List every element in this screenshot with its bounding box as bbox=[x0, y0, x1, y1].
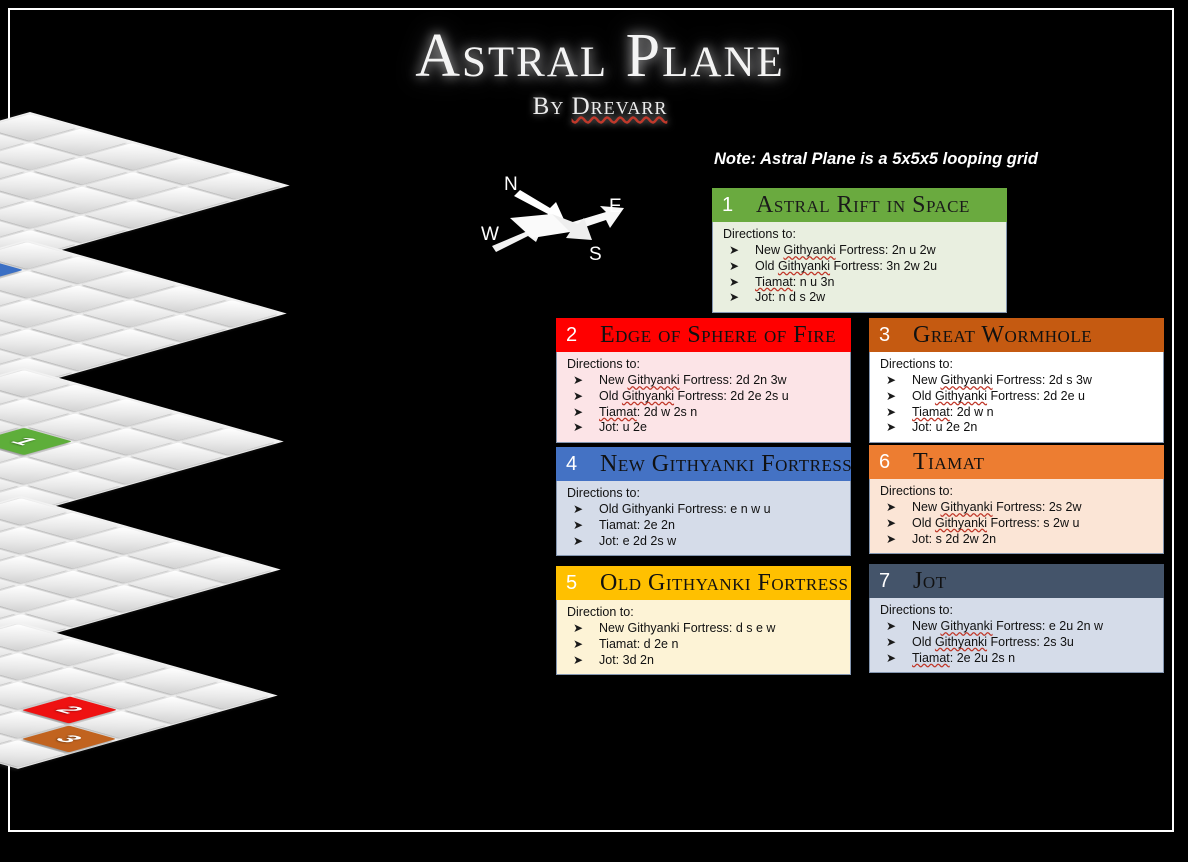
grid-cells: 1 bbox=[0, 368, 284, 515]
direction-text: Tiamat: n u 3n bbox=[755, 275, 834, 289]
direction-entry: ➤Old Githyanki Fortress: s 2w u bbox=[878, 516, 1155, 532]
direction-text: Tiamat: d 2e n bbox=[599, 637, 678, 651]
subtitle-author: Drevarr bbox=[572, 93, 668, 120]
poster-canvas: Astral Plane By Drevarr Note: Astral Pla… bbox=[0, 0, 1188, 855]
compass-rose: N E W S bbox=[470, 168, 635, 273]
direction-entry: ➤New Githyanki Fortress: d s e w bbox=[565, 621, 842, 637]
card-5-number: 5 bbox=[566, 572, 594, 595]
direction-text: Tiamat: 2d w 2s n bbox=[599, 405, 697, 419]
arrow-bullet-icon: ➤ bbox=[886, 405, 896, 421]
card-5-header: 5Old Githyanki Fortress bbox=[556, 566, 851, 600]
page-subtitle: By Drevarr bbox=[533, 93, 668, 121]
spellcheck-underline: Githyanki bbox=[940, 500, 992, 514]
grid-cells: 23 bbox=[0, 622, 278, 769]
direction-text: New Githyanki Fortress: e 2u 2n w bbox=[912, 619, 1103, 633]
direction-entry: ➤Old Githyanki Fortress: 2d 2e 2s u bbox=[565, 389, 842, 405]
arrow-bullet-icon: ➤ bbox=[886, 619, 896, 635]
direction-entry: ➤Old Githyanki Fortress: 3n 2w 2u bbox=[721, 259, 998, 275]
card-6-number: 6 bbox=[879, 451, 907, 474]
directions-list: ➤New Githyanki Fortress: 2s 2w➤Old Githy… bbox=[878, 500, 1155, 547]
directions-list: ➤New Githyanki Fortress: e 2u 2n w➤Old G… bbox=[878, 619, 1155, 666]
direction-entry: ➤Old Githyanki Fortress: e n w u bbox=[565, 502, 842, 518]
card-4[interactable]: 4New Githyanki FortressDirections to:➤Ol… bbox=[556, 447, 851, 556]
direction-text: Old Githyanki Fortress: 2s 3u bbox=[912, 635, 1074, 649]
direction-text: Old Githyanki Fortress: e n w u bbox=[599, 502, 771, 516]
spellcheck-underline: Tiamat bbox=[912, 405, 950, 419]
card-2[interactable]: 2Edge of Sphere of FireDirections to:➤Ne… bbox=[556, 318, 851, 443]
arrow-bullet-icon: ➤ bbox=[886, 373, 896, 389]
spellcheck-underline: Githyanki bbox=[935, 635, 987, 649]
subtitle-prefix: By bbox=[533, 93, 572, 120]
direction-text: Jot: e 2d 2s w bbox=[599, 534, 676, 548]
direction-entry: ➤New Githyanki Fortress: e 2u 2n w bbox=[878, 619, 1155, 635]
spellcheck-underline: Tiamat bbox=[755, 275, 793, 289]
arrow-bullet-icon: ➤ bbox=[729, 275, 739, 291]
direction-entry: ➤Jot: n d s 2w bbox=[721, 290, 998, 306]
directions-list: ➤New Githyanki Fortress: 2n u 2w➤Old Git… bbox=[721, 243, 998, 306]
direction-entry: ➤Tiamat: 2d w n bbox=[878, 405, 1155, 421]
arrow-bullet-icon: ➤ bbox=[729, 290, 739, 306]
spellcheck-underline: Githyanki bbox=[778, 259, 830, 273]
card-5-title: Old Githyanki Fortress bbox=[600, 570, 849, 597]
card-6-body: Directions to:➤New Githyanki Fortress: 2… bbox=[869, 479, 1164, 554]
direction-text: Jot: s 2d 2w 2n bbox=[912, 532, 996, 546]
direction-text: Old Githyanki Fortress: 2d 2e 2s u bbox=[599, 389, 789, 403]
direction-entry: ➤Jot: 3d 2n bbox=[565, 653, 842, 669]
card-1-header: 1Astral Rift in Space bbox=[712, 188, 1007, 222]
direction-entry: ➤Tiamat: 2e 2u 2s n bbox=[878, 651, 1155, 667]
spellcheck-underline: Githyanki bbox=[627, 373, 679, 387]
grid-layer-5: 23 bbox=[18, 622, 418, 862]
card-1-body: Directions to:➤New Githyanki Fortress: 2… bbox=[712, 222, 1007, 313]
directions-label: Directions to: bbox=[723, 227, 998, 241]
directions-label: Direction to: bbox=[567, 605, 842, 619]
card-3-number: 3 bbox=[879, 324, 907, 347]
card-1[interactable]: 1Astral Rift in SpaceDirections to:➤New … bbox=[712, 188, 1007, 313]
directions-label: Directions to: bbox=[880, 603, 1155, 617]
direction-text: New Githyanki Fortress: 2d 2n 3w bbox=[599, 373, 787, 387]
card-3-title: Great Wormhole bbox=[913, 322, 1092, 349]
card-6-title: Tiamat bbox=[913, 449, 985, 476]
card-7-number: 7 bbox=[879, 570, 907, 593]
direction-text: Jot: u 2e bbox=[599, 420, 647, 434]
arrow-bullet-icon: ➤ bbox=[573, 621, 583, 637]
card-1-number: 1 bbox=[722, 194, 750, 217]
arrow-bullet-icon: ➤ bbox=[886, 651, 896, 667]
spellcheck-underline: Githyanki bbox=[783, 243, 835, 257]
direction-entry: ➤New Githyanki Fortress: 2n u 2w bbox=[721, 243, 998, 259]
directions-label: Directions to: bbox=[567, 486, 842, 500]
astral-grid-layers: 5461723 bbox=[0, 0, 470, 855]
arrow-bullet-icon: ➤ bbox=[573, 373, 583, 389]
direction-entry: ➤Tiamat: 2d w 2s n bbox=[565, 405, 842, 421]
spellcheck-underline: Githyanki bbox=[940, 373, 992, 387]
direction-text: Tiamat: 2e 2n bbox=[599, 518, 675, 532]
direction-text: New Githyanki Fortress: 2d s 3w bbox=[912, 373, 1092, 387]
arrow-bullet-icon: ➤ bbox=[573, 518, 583, 534]
card-6-header: 6Tiamat bbox=[869, 445, 1164, 479]
arrow-bullet-icon: ➤ bbox=[886, 389, 896, 405]
spellcheck-underline: Githyanki bbox=[940, 619, 992, 633]
card-7-body: Directions to:➤New Githyanki Fortress: e… bbox=[869, 598, 1164, 673]
grid-cells: 5 bbox=[0, 112, 290, 259]
card-1-title: Astral Rift in Space bbox=[756, 192, 970, 219]
grid-note: Note: Astral Plane is a 5x5x5 looping gr… bbox=[714, 150, 1038, 169]
direction-text: Old Githyanki Fortress: s 2w u bbox=[912, 516, 1079, 530]
direction-text: Old Githyanki Fortress: 2d 2e u bbox=[912, 389, 1085, 403]
card-2-title: Edge of Sphere of Fire bbox=[600, 322, 836, 349]
card-2-number: 2 bbox=[566, 324, 594, 347]
direction-text: Jot: u 2e 2n bbox=[912, 420, 977, 434]
compass-label-east: E bbox=[609, 196, 622, 218]
directions-label: Directions to: bbox=[567, 357, 842, 371]
direction-text: Tiamat: 2e 2u 2s n bbox=[912, 651, 1015, 665]
arrow-bullet-icon: ➤ bbox=[729, 243, 739, 259]
arrow-bullet-icon: ➤ bbox=[573, 389, 583, 405]
compass-label-west: W bbox=[481, 224, 499, 246]
directions-list: ➤New Githyanki Fortress: d s e w➤Tiamat:… bbox=[565, 621, 842, 668]
directions-label: Directions to: bbox=[880, 357, 1155, 371]
direction-entry: ➤New Githyanki Fortress: 2s 2w bbox=[878, 500, 1155, 516]
directions-list: ➤Old Githyanki Fortress: e n w u➤Tiamat:… bbox=[565, 502, 842, 549]
direction-entry: ➤Jot: u 2e bbox=[565, 420, 842, 436]
arrow-bullet-icon: ➤ bbox=[886, 516, 896, 532]
directions-label: Directions to: bbox=[880, 484, 1155, 498]
arrow-bullet-icon: ➤ bbox=[886, 532, 896, 548]
compass-label-south: S bbox=[589, 244, 602, 266]
arrow-bullet-icon: ➤ bbox=[886, 635, 896, 651]
direction-text: Jot: 3d 2n bbox=[599, 653, 654, 667]
card-7-header: 7Jot bbox=[869, 564, 1164, 598]
arrow-bullet-icon: ➤ bbox=[573, 534, 583, 550]
arrow-bullet-icon: ➤ bbox=[573, 502, 583, 518]
direction-entry: ➤Tiamat: 2e 2n bbox=[565, 518, 842, 534]
card-4-number: 4 bbox=[566, 453, 594, 476]
spellcheck-underline: Githyanki bbox=[935, 516, 987, 530]
grid-cells: 46 bbox=[0, 240, 287, 387]
card-7[interactable]: 7JotDirections to:➤New Githyanki Fortres… bbox=[869, 564, 1164, 673]
spellcheck-underline: Tiamat bbox=[912, 651, 950, 665]
direction-entry: ➤Tiamat: n u 3n bbox=[721, 275, 998, 291]
card-3-header: 3Great Wormhole bbox=[869, 318, 1164, 352]
card-7-title: Jot bbox=[913, 568, 947, 595]
card-4-title: New Githyanki Fortress bbox=[600, 451, 852, 478]
arrow-bullet-icon: ➤ bbox=[573, 420, 583, 436]
direction-entry: ➤Tiamat: d 2e n bbox=[565, 637, 842, 653]
arrow-bullet-icon: ➤ bbox=[573, 637, 583, 653]
direction-text: Jot: n d s 2w bbox=[755, 290, 825, 304]
card-5-body: Direction to:➤New Githyanki Fortress: d … bbox=[556, 600, 851, 675]
card-3[interactable]: 3Great WormholeDirections to:➤New Githya… bbox=[869, 318, 1164, 443]
card-5[interactable]: 5Old Githyanki FortressDirection to:➤New… bbox=[556, 566, 851, 675]
direction-entry: ➤Jot: s 2d 2w 2n bbox=[878, 532, 1155, 548]
directions-list: ➤New Githyanki Fortress: 2d 2n 3w➤Old Gi… bbox=[565, 373, 842, 436]
compass-arrows-icon bbox=[470, 168, 635, 273]
compass-label-north: N bbox=[504, 174, 518, 196]
direction-entry: ➤New Githyanki Fortress: 2d 2n 3w bbox=[565, 373, 842, 389]
card-2-header: 2Edge of Sphere of Fire bbox=[556, 318, 851, 352]
card-3-body: Directions to:➤New Githyanki Fortress: 2… bbox=[869, 352, 1164, 443]
arrow-bullet-icon: ➤ bbox=[573, 653, 583, 669]
direction-entry: ➤Old Githyanki Fortress: 2d 2e u bbox=[878, 389, 1155, 405]
grid-cells: 7 bbox=[0, 496, 281, 643]
card-4-header: 4New Githyanki Fortress bbox=[556, 447, 851, 481]
direction-text: Tiamat: 2d w n bbox=[912, 405, 994, 419]
card-4-body: Directions to:➤Old Githyanki Fortress: e… bbox=[556, 481, 851, 556]
direction-entry: ➤Jot: u 2e 2n bbox=[878, 420, 1155, 436]
spellcheck-underline: Githyanki bbox=[935, 389, 987, 403]
spellcheck-underline: Tiamat bbox=[599, 405, 637, 419]
direction-text: New Githyanki Fortress: 2n u 2w bbox=[755, 243, 936, 257]
card-6[interactable]: 6TiamatDirections to:➤New Githyanki Fort… bbox=[869, 445, 1164, 554]
direction-text: Old Githyanki Fortress: 3n 2w 2u bbox=[755, 259, 937, 273]
directions-list: ➤New Githyanki Fortress: 2d s 3w➤Old Git… bbox=[878, 373, 1155, 436]
arrow-bullet-icon: ➤ bbox=[886, 500, 896, 516]
arrow-bullet-icon: ➤ bbox=[729, 259, 739, 275]
direction-entry: ➤Jot: e 2d 2s w bbox=[565, 534, 842, 550]
arrow-bullet-icon: ➤ bbox=[886, 420, 896, 436]
arrow-bullet-icon: ➤ bbox=[573, 405, 583, 421]
direction-entry: ➤Old Githyanki Fortress: 2s 3u bbox=[878, 635, 1155, 651]
direction-text: New Githyanki Fortress: 2s 2w bbox=[912, 500, 1082, 514]
card-2-body: Directions to:➤New Githyanki Fortress: 2… bbox=[556, 352, 851, 443]
direction-text: New Githyanki Fortress: d s e w bbox=[599, 621, 775, 635]
spellcheck-underline: Githyanki bbox=[622, 389, 674, 403]
direction-entry: ➤New Githyanki Fortress: 2d s 3w bbox=[878, 373, 1155, 389]
